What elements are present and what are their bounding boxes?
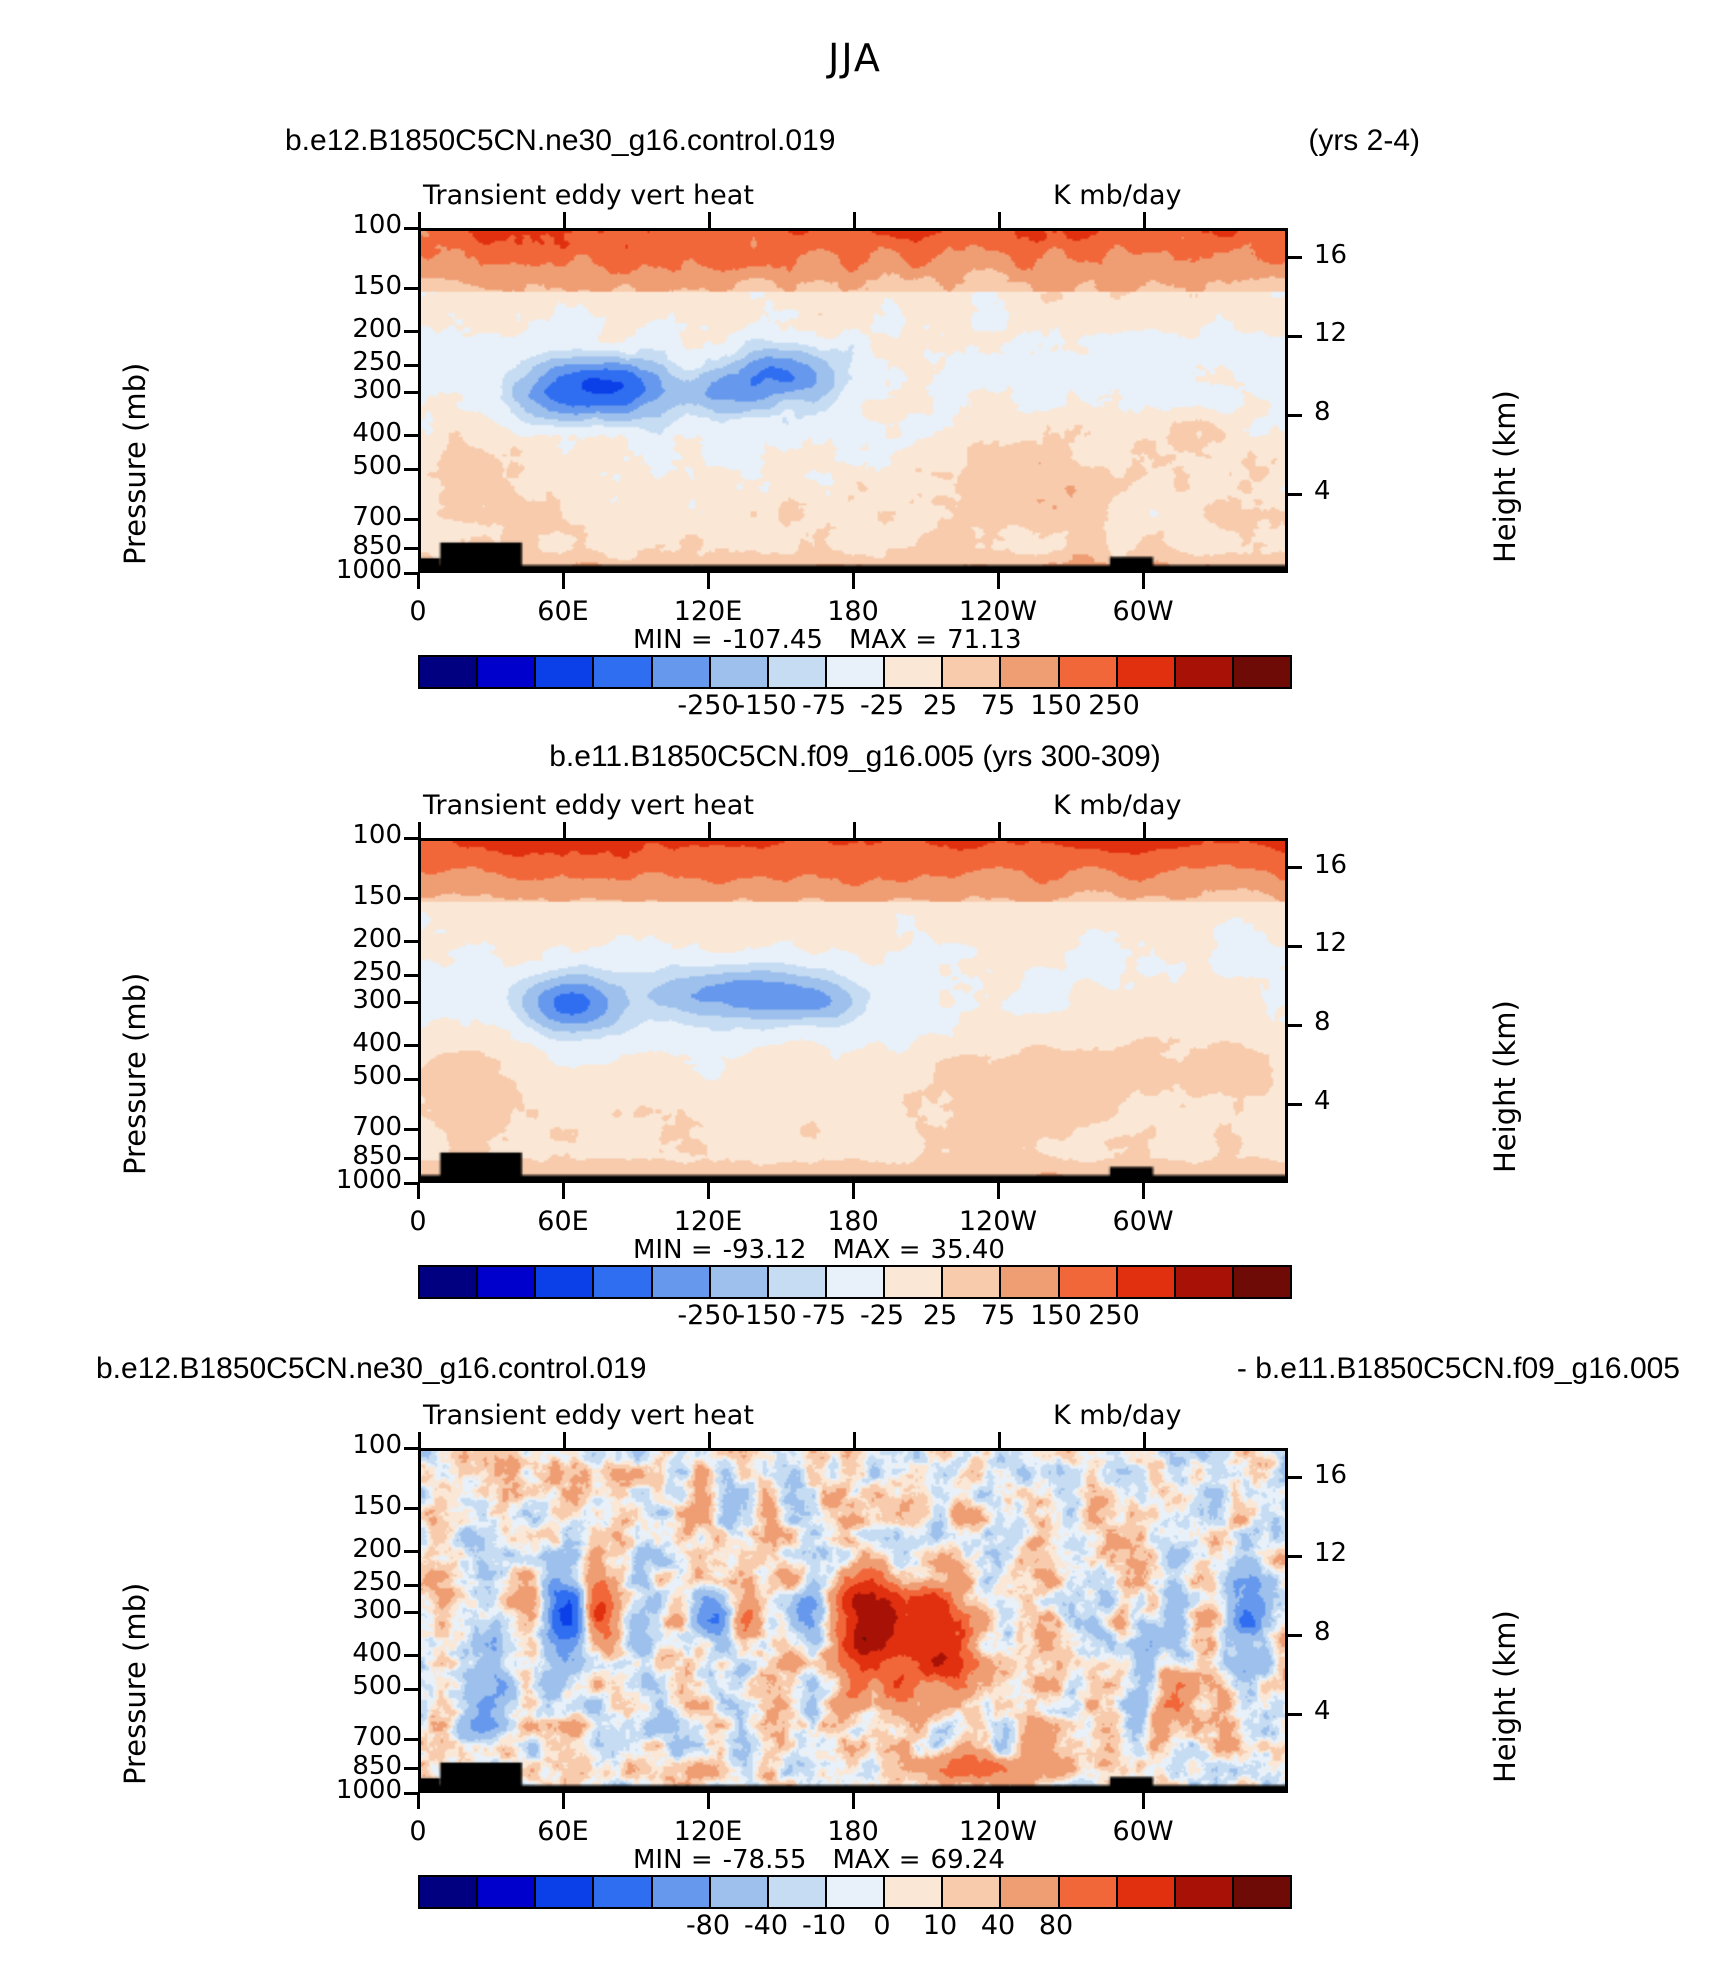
- longitude-tick-mark: [997, 1183, 1000, 1199]
- longitude-tick-mark: [562, 1183, 565, 1199]
- minmax-min-label: MIN =: [633, 1845, 713, 1875]
- top-tick-mark: [998, 212, 1001, 228]
- minmax-max-label: MAX =: [832, 1845, 920, 1875]
- longitude-tick-mark: [562, 573, 565, 589]
- longitude-tick-label: 0: [358, 1816, 478, 1847]
- top-tick-mark: [563, 1432, 566, 1448]
- longitude-tick-mark: [417, 1183, 420, 1199]
- colorbar-swatch: [1176, 1877, 1234, 1907]
- minmax-max-value: 71.13: [947, 625, 1021, 655]
- colorbar-swatch: [1118, 1267, 1176, 1297]
- pressure-tick-mark: [404, 1507, 420, 1510]
- variable-name-label: Transient eddy vert heat: [423, 790, 754, 821]
- pressure-tick-mark: [404, 1654, 420, 1657]
- longitude-tick-label: 0: [358, 1206, 478, 1237]
- height-tick-label: 16: [1314, 1460, 1347, 1490]
- pressure-tick-label: 300: [298, 375, 402, 405]
- colorbar-swatch: [594, 1877, 652, 1907]
- height-tick-mark: [1286, 866, 1302, 869]
- longitude-tick-mark: [1142, 1793, 1145, 1809]
- pressure-tick-label: 1000: [298, 1165, 402, 1195]
- longitude-tick-mark: [562, 1793, 565, 1809]
- top-tick-mark: [1143, 822, 1146, 838]
- pressure-tick-label: 1000: [298, 1775, 402, 1805]
- minmax-readout: MIN =-107.45MAX =71.13: [633, 625, 1032, 655]
- height-tick-mark: [1286, 493, 1302, 496]
- pressure-tick-mark: [404, 330, 420, 333]
- minmax-readout: MIN =-93.12MAX =35.40: [633, 1235, 1015, 1265]
- pressure-tick-mark: [404, 1767, 420, 1770]
- minmax-max-value: 35.40: [931, 1235, 1005, 1265]
- top-tick-mark: [853, 822, 856, 838]
- variable-name-label: Transient eddy vert heat: [423, 180, 754, 211]
- longitude-tick-mark: [707, 1793, 710, 1809]
- height-tick-label: 16: [1314, 240, 1347, 270]
- longitude-tick-label: 60E: [503, 596, 623, 627]
- pressure-tick-label: 500: [298, 1671, 402, 1701]
- pressure-tick-mark: [404, 1611, 420, 1614]
- top-tick-mark: [708, 822, 711, 838]
- colorbar-swatch: [943, 1267, 1001, 1297]
- contour-field-canvas: [421, 1451, 1285, 1790]
- pressure-tick-label: 100: [298, 1430, 402, 1460]
- colorbar-swatch: [1118, 1877, 1176, 1907]
- panel-title-center: b.e11.B1850C5CN.f09_g16.005 (yrs 300-309…: [0, 740, 1710, 774]
- pressure-tick-label: 250: [298, 957, 402, 987]
- longitude-tick-label: 120E: [648, 596, 768, 627]
- minmax-min-label: MIN =: [633, 1235, 713, 1265]
- colorbar-swatch: [653, 1267, 711, 1297]
- colorbar-swatch: [711, 1267, 769, 1297]
- pressure-tick-mark: [404, 1001, 420, 1004]
- longitude-tick-mark: [707, 1183, 710, 1199]
- colorbar-swatch: [478, 1877, 536, 1907]
- pressure-tick-mark: [404, 391, 420, 394]
- colorbar-swatch: [1176, 1267, 1234, 1297]
- height-tick-mark: [1286, 945, 1302, 948]
- colorbar-swatch: [1001, 1267, 1059, 1297]
- contour-field-canvas: [421, 231, 1285, 570]
- minmax-max-value: 69.24: [931, 1845, 1005, 1875]
- height-tick-label: 4: [1314, 1696, 1331, 1726]
- pressure-tick-mark: [404, 1128, 420, 1131]
- colorbar-swatch: [1234, 1267, 1290, 1297]
- colorbar-swatch: [1060, 657, 1118, 687]
- colorbar-swatch: [420, 1877, 478, 1907]
- pressure-tick-label: 150: [298, 271, 402, 301]
- minmax-min-value: -93.12: [723, 1235, 807, 1265]
- pressure-tick-label: 700: [298, 502, 402, 532]
- height-axis-label: Height (km): [1488, 390, 1522, 563]
- longitude-tick-label: 180: [793, 596, 913, 627]
- pressure-tick-mark: [404, 364, 420, 367]
- panel-title-left: b.e12.B1850C5CN.ne30_g16.control.019: [285, 124, 835, 158]
- pressure-tick-mark: [404, 940, 420, 943]
- pressure-axis-label: Pressure (mb): [118, 1583, 152, 1785]
- colorbar-swatch: [594, 657, 652, 687]
- colorbar-swatch: [478, 1267, 536, 1297]
- longitude-tick-mark: [1142, 573, 1145, 589]
- colorbar-swatch: [711, 1877, 769, 1907]
- colorbar-tick-label: 80: [986, 1910, 1126, 1941]
- height-tick-mark: [1286, 1476, 1302, 1479]
- pressure-axis-label: Pressure (mb): [118, 973, 152, 1175]
- contour-field-canvas: [421, 841, 1285, 1180]
- colorbar-tick-label: 250: [1044, 690, 1184, 721]
- colorbar-swatch: [711, 657, 769, 687]
- top-tick-mark: [998, 1432, 1001, 1448]
- pressure-tick-label: 1000: [298, 555, 402, 585]
- pressure-tick-mark: [404, 1688, 420, 1691]
- pressure-tick-mark: [404, 547, 420, 550]
- colorbar-swatch: [885, 1267, 943, 1297]
- height-axis-label: Height (km): [1488, 1610, 1522, 1783]
- panel-title-right: (yrs 2-4): [1308, 124, 1420, 158]
- colorbar-swatch: [827, 1267, 885, 1297]
- longitude-tick-label: 120W: [938, 1206, 1058, 1237]
- colorbar-swatch: [1001, 1877, 1059, 1907]
- height-tick-mark: [1286, 1555, 1302, 1558]
- contour-plot-area: [418, 838, 1288, 1183]
- longitude-tick-label: 0: [358, 596, 478, 627]
- colorbar-swatch: [653, 1877, 711, 1907]
- height-tick-mark: [1286, 1103, 1302, 1106]
- height-tick-label: 12: [1314, 318, 1347, 348]
- pressure-tick-label: 400: [298, 418, 402, 448]
- colorbar-swatch: [885, 657, 943, 687]
- colorbar-swatch: [1001, 657, 1059, 687]
- height-axis-label: Height (km): [1488, 1000, 1522, 1173]
- pressure-tick-mark: [404, 837, 420, 840]
- pressure-tick-label: 100: [298, 210, 402, 240]
- pressure-tick-label: 250: [298, 1567, 402, 1597]
- longitude-tick-mark: [417, 1793, 420, 1809]
- units-label: K mb/day: [1053, 790, 1182, 821]
- top-tick-mark: [998, 822, 1001, 838]
- pressure-tick-label: 200: [298, 314, 402, 344]
- colorbar-swatch: [769, 1877, 827, 1907]
- pressure-tick-label: 700: [298, 1112, 402, 1142]
- longitude-tick-label: 60W: [1083, 1816, 1203, 1847]
- longitude-tick-label: 60W: [1083, 1206, 1203, 1237]
- longitude-tick-label: 60W: [1083, 596, 1203, 627]
- units-label: K mb/day: [1053, 1400, 1182, 1431]
- pressure-tick-mark: [404, 1157, 420, 1160]
- colorbar-swatch: [769, 657, 827, 687]
- pressure-tick-mark: [404, 1078, 420, 1081]
- pressure-tick-label: 100: [298, 820, 402, 850]
- pressure-tick-label: 300: [298, 985, 402, 1015]
- pressure-tick-mark: [404, 1584, 420, 1587]
- height-tick-mark: [1286, 256, 1302, 259]
- figure-season-title: JJA: [0, 36, 1710, 80]
- pressure-tick-label: 400: [298, 1638, 402, 1668]
- colorbar-swatch: [769, 1267, 827, 1297]
- longitude-tick-mark: [852, 573, 855, 589]
- minmax-min-label: MIN =: [633, 625, 713, 655]
- colorbar-swatch: [653, 657, 711, 687]
- height-tick-label: 4: [1314, 1086, 1331, 1116]
- longitude-tick-label: 120W: [938, 1816, 1058, 1847]
- pressure-tick-mark: [404, 974, 420, 977]
- pressure-tick-label: 700: [298, 1722, 402, 1752]
- colorbar-swatch: [1060, 1877, 1118, 1907]
- pressure-tick-label: 500: [298, 451, 402, 481]
- longitude-tick-mark: [1142, 1183, 1145, 1199]
- top-tick-mark: [1143, 212, 1146, 228]
- colorbar-swatch: [478, 657, 536, 687]
- colorbar-swatch: [536, 1267, 594, 1297]
- colorbar-swatch: [1060, 1267, 1118, 1297]
- pressure-tick-mark: [404, 1738, 420, 1741]
- top-tick-mark: [853, 212, 856, 228]
- height-tick-mark: [1286, 335, 1302, 338]
- pressure-tick-label: 300: [298, 1595, 402, 1625]
- height-tick-mark: [1286, 1024, 1302, 1027]
- colorbar-swatch: [536, 657, 594, 687]
- pressure-tick-mark: [404, 518, 420, 521]
- pressure-tick-label: 500: [298, 1061, 402, 1091]
- pressure-tick-label: 150: [298, 881, 402, 911]
- longitude-tick-label: 60E: [503, 1816, 623, 1847]
- top-tick-mark: [708, 1432, 711, 1448]
- top-tick-mark: [1143, 1432, 1146, 1448]
- longitude-tick-label: 120E: [648, 1816, 768, 1847]
- colorbar-tick-label: 250: [1044, 1300, 1184, 1331]
- height-tick-label: 16: [1314, 850, 1347, 880]
- colorbar-swatch: [1118, 657, 1176, 687]
- colorbar: [418, 655, 1292, 689]
- contour-plot-area: [418, 1448, 1288, 1793]
- variable-name-label: Transient eddy vert heat: [423, 1400, 754, 1431]
- height-tick-label: 8: [1314, 397, 1331, 427]
- minmax-min-value: -107.45: [723, 625, 823, 655]
- pressure-tick-mark: [404, 468, 420, 471]
- colorbar-swatch: [1234, 1877, 1290, 1907]
- longitude-tick-label: 120W: [938, 596, 1058, 627]
- pressure-tick-mark: [404, 897, 420, 900]
- colorbar-swatch: [420, 657, 478, 687]
- longitude-tick-label: 180: [793, 1206, 913, 1237]
- pressure-tick-mark: [404, 1550, 420, 1553]
- height-tick-label: 12: [1314, 1538, 1347, 1568]
- colorbar-swatch: [943, 1877, 1001, 1907]
- colorbar-swatch: [943, 657, 1001, 687]
- longitude-tick-label: 120E: [648, 1206, 768, 1237]
- colorbar-swatch: [594, 1267, 652, 1297]
- colorbar-swatch: [1176, 657, 1234, 687]
- colorbar-swatch: [827, 1877, 885, 1907]
- pressure-tick-label: 400: [298, 1028, 402, 1058]
- longitude-tick-mark: [997, 573, 1000, 589]
- colorbar-swatch: [1234, 657, 1290, 687]
- pressure-tick-label: 150: [298, 1491, 402, 1521]
- longitude-tick-mark: [417, 573, 420, 589]
- panel-title-right: - b.e11.B1850C5CN.f09_g16.005: [1237, 1352, 1680, 1386]
- longitude-tick-label: 180: [793, 1816, 913, 1847]
- minmax-min-value: -78.55: [723, 1845, 807, 1875]
- height-tick-label: 8: [1314, 1007, 1331, 1037]
- pressure-tick-mark: [404, 287, 420, 290]
- longitude-tick-mark: [852, 1793, 855, 1809]
- longitude-tick-label: 60E: [503, 1206, 623, 1237]
- top-tick-mark: [853, 1432, 856, 1448]
- minmax-max-label: MAX =: [849, 625, 937, 655]
- minmax-max-label: MAX =: [832, 1235, 920, 1265]
- pressure-tick-label: 200: [298, 1534, 402, 1564]
- colorbar: [418, 1265, 1292, 1299]
- pressure-tick-mark: [404, 1447, 420, 1450]
- longitude-tick-mark: [707, 573, 710, 589]
- height-tick-label: 8: [1314, 1617, 1331, 1647]
- longitude-tick-mark: [997, 1793, 1000, 1809]
- contour-plot-area: [418, 228, 1288, 573]
- colorbar-swatch: [420, 1267, 478, 1297]
- height-tick-mark: [1286, 1634, 1302, 1637]
- top-tick-mark: [563, 212, 566, 228]
- longitude-tick-mark: [852, 1183, 855, 1199]
- height-tick-label: 4: [1314, 476, 1331, 506]
- top-tick-mark: [708, 212, 711, 228]
- units-label: K mb/day: [1053, 180, 1182, 211]
- colorbar-swatch: [885, 1877, 943, 1907]
- colorbar-swatch: [827, 657, 885, 687]
- pressure-tick-label: 250: [298, 347, 402, 377]
- pressure-tick-mark: [404, 1044, 420, 1047]
- colorbar-swatch: [536, 1877, 594, 1907]
- panel-title-left: b.e12.B1850C5CN.ne30_g16.control.019: [96, 1352, 646, 1386]
- minmax-readout: MIN =-78.55MAX =69.24: [633, 1845, 1015, 1875]
- pressure-tick-mark: [404, 434, 420, 437]
- height-tick-mark: [1286, 1713, 1302, 1716]
- pressure-tick-mark: [404, 227, 420, 230]
- pressure-axis-label: Pressure (mb): [118, 363, 152, 565]
- colorbar: [418, 1875, 1292, 1909]
- height-tick-label: 12: [1314, 928, 1347, 958]
- height-tick-mark: [1286, 414, 1302, 417]
- pressure-tick-label: 200: [298, 924, 402, 954]
- top-tick-mark: [563, 822, 566, 838]
